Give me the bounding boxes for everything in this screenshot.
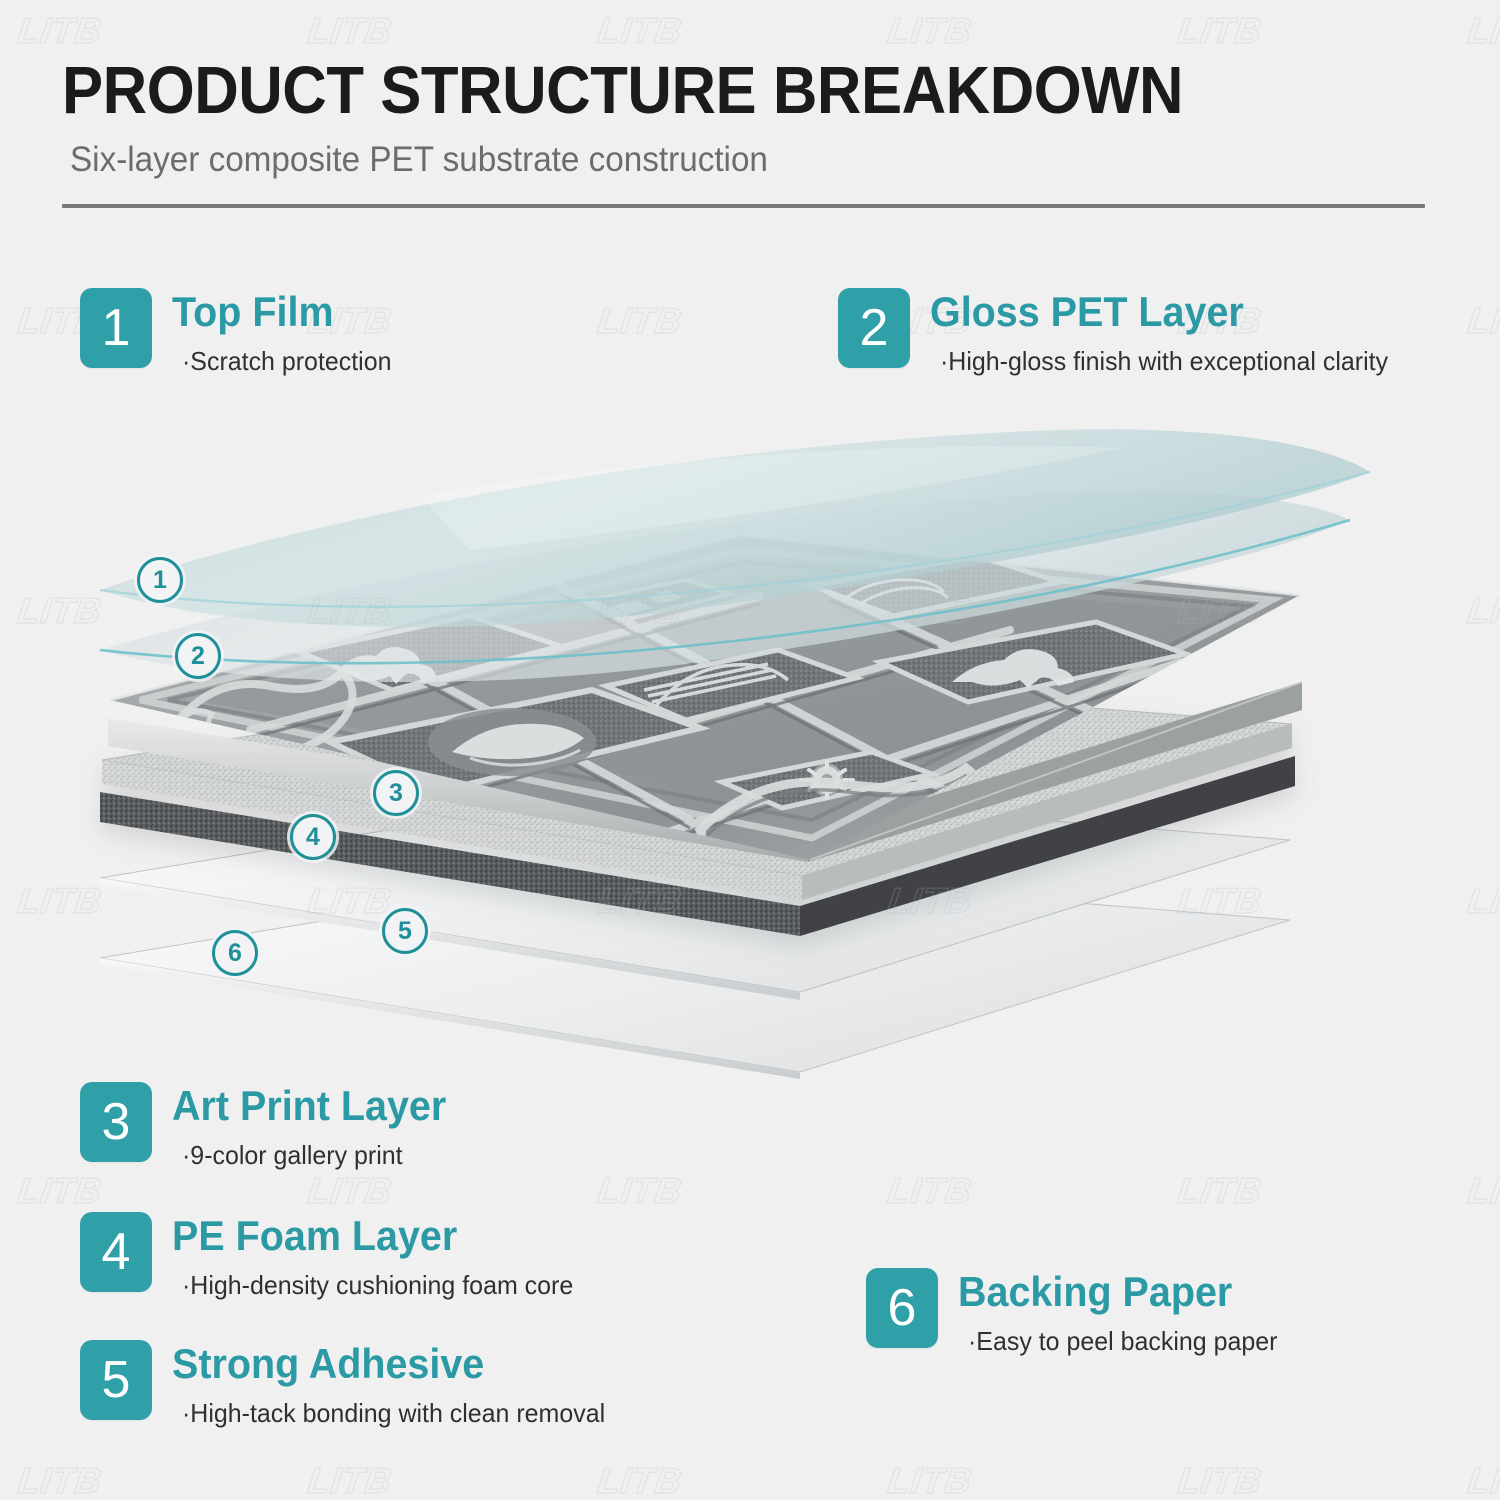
callout-layer-2: 2 Gloss PET Layer ·High-gloss finish wit…	[838, 288, 1407, 377]
diagram-marker-3: 3	[373, 770, 419, 816]
watermark-litb: LITB	[305, 1170, 395, 1212]
watermark-litb: LITB	[305, 10, 395, 52]
watermark-litb: LITB	[305, 1460, 395, 1500]
callout-layer-6: 6 Backing Paper ·Easy to peel backing pa…	[866, 1268, 1290, 1357]
layer-title-2: Gloss PET Layer	[930, 290, 1378, 334]
watermark-litb: LITB	[1465, 1460, 1500, 1500]
watermark-litb: LITB	[595, 10, 685, 52]
watermark-litb: LITB	[595, 1170, 685, 1212]
watermark-litb: LITB	[1465, 1170, 1500, 1212]
layer-badge-5: 5	[80, 1340, 152, 1420]
layer-desc-1: ·Scratch protection	[182, 346, 391, 377]
infographic-page: LITBLITBLITBLITBLITBLITBLITBLITBLITBLITB…	[0, 0, 1500, 1500]
watermark-litb: LITB	[15, 10, 105, 52]
layer-badge-4: 4	[80, 1212, 152, 1292]
layer-title-1: Top Film	[172, 290, 387, 334]
diagram-marker-5: 5	[382, 908, 428, 954]
callout-layer-1: 1 Top Film ·Scratch protection	[80, 288, 400, 377]
layer-desc-5: ·High-tack bonding with clean removal	[182, 1398, 605, 1429]
layer-desc-6: ·Easy to peel backing paper	[968, 1326, 1277, 1357]
layer-stack-illustration	[0, 400, 1500, 1100]
layer-badge-2: 2	[838, 288, 910, 368]
header: PRODUCT STRUCTURE BREAKDOWN Six-layer co…	[62, 56, 1432, 208]
watermark-litb: LITB	[15, 1460, 105, 1500]
layer-desc-2: ·High-gloss finish with exceptional clar…	[940, 346, 1388, 377]
watermark-litb: LITB	[1175, 10, 1265, 52]
layer-desc-3: ·9-color gallery print	[182, 1140, 452, 1171]
layer-badge-6: 6	[866, 1268, 938, 1348]
diagram-marker-2: 2	[175, 633, 221, 679]
diagram-marker-6: 6	[212, 930, 258, 976]
callout-layer-4: 4 PE Foam Layer ·High-density cushioning…	[80, 1212, 590, 1301]
layer-badge-3: 3	[80, 1082, 152, 1162]
layer-title-4: PE Foam Layer	[172, 1214, 564, 1258]
callout-layer-5: 5 Strong Adhesive ·High-tack bonding wit…	[80, 1340, 623, 1429]
watermark-litb: LITB	[15, 1170, 105, 1212]
watermark-litb: LITB	[1175, 1460, 1265, 1500]
watermark-litb: LITB	[1175, 1170, 1265, 1212]
watermark-litb: LITB	[885, 10, 975, 52]
watermark-litb: LITB	[1465, 10, 1500, 52]
layer-title-5: Strong Adhesive	[172, 1342, 596, 1386]
watermark-litb: LITB	[595, 1460, 685, 1500]
diagram-marker-4: 4	[290, 814, 336, 860]
watermark-litb: LITB	[885, 1170, 975, 1212]
callout-layer-3: 3 Art Print Layer ·9-color gallery print	[80, 1082, 464, 1171]
page-title: PRODUCT STRUCTURE BREAKDOWN	[62, 56, 1322, 126]
layer-desc-4: ·High-density cushioning foam core	[182, 1270, 573, 1301]
diagram-marker-1: 1	[137, 557, 183, 603]
layer-title-6: Backing Paper	[958, 1270, 1270, 1314]
watermark-litb: LITB	[885, 1460, 975, 1500]
page-subtitle: Six-layer composite PET substrate constr…	[70, 140, 1364, 180]
header-divider	[62, 204, 1425, 208]
layer-badge-1: 1	[80, 288, 152, 368]
layer-title-3: Art Print Layer	[172, 1084, 446, 1128]
watermark-litb: LITB	[1465, 300, 1500, 342]
watermark-litb: LITB	[595, 300, 685, 342]
